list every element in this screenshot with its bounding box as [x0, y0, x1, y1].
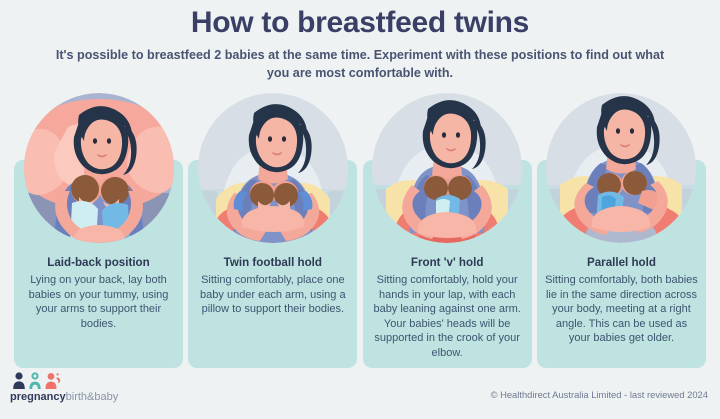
card-heading: Laid-back position — [22, 255, 175, 270]
front-v-hold-illustration — [372, 93, 522, 243]
card-heading: Parallel hold — [545, 255, 698, 270]
card-body: Sitting comfortably, hold your hands in … — [371, 273, 524, 361]
footer: pregnancybirth&baby © Healthdirect Austr… — [0, 369, 720, 419]
page-title: How to breastfeed twins — [0, 6, 720, 40]
card-text: Twin football hold Sitting comfortably, … — [188, 255, 357, 317]
header: How to breastfeed twins It's possible to… — [0, 0, 720, 82]
position-card-laid-back[interactable]: Laid-back position Lying on your back, l… — [14, 93, 183, 368]
position-card-parallel[interactable]: Parallel hold Sitting comfortably, both … — [537, 93, 706, 368]
twin-football-hold-illustration — [198, 93, 348, 243]
laid-back-position-illustration — [24, 93, 174, 243]
card-text: Laid-back position Lying on your back, l… — [14, 255, 183, 331]
brand-name-bold: pregnancy — [10, 391, 66, 403]
card-text: Parallel hold Sitting comfortably, both … — [537, 255, 706, 346]
page-subtitle: It's possible to breastfeed 2 babies at … — [50, 46, 670, 82]
card-heading: Front 'v' hold — [371, 255, 524, 270]
positions-card-row: Laid-back position Lying on your back, l… — [0, 93, 720, 368]
brand-logo[interactable]: pregnancybirth&baby — [10, 372, 210, 404]
card-heading: Twin football hold — [196, 255, 349, 270]
card-body: Sitting comfortably, both babies lie in … — [545, 273, 698, 346]
copyright-text: © Healthdirect Australia Limited - last … — [491, 389, 708, 400]
pregnancy-birth-baby-logo-icon — [10, 372, 64, 390]
brand-name-light: birth&baby — [66, 391, 119, 403]
parallel-hold-illustration — [546, 93, 696, 243]
infographic-root: How to breastfeed twins It's possible to… — [0, 0, 720, 419]
position-card-front-v[interactable]: Front 'v' hold Sitting comfortably, hold… — [363, 93, 532, 368]
brand-wordmark: pregnancybirth&baby — [10, 391, 210, 404]
card-body: Sitting comfortably, place one baby unde… — [196, 273, 349, 317]
card-body: Lying on your back, lay both babies on y… — [22, 273, 175, 331]
position-card-twin-football[interactable]: Twin football hold Sitting comfortably, … — [188, 93, 357, 368]
card-text: Front 'v' hold Sitting comfortably, hold… — [363, 255, 532, 361]
